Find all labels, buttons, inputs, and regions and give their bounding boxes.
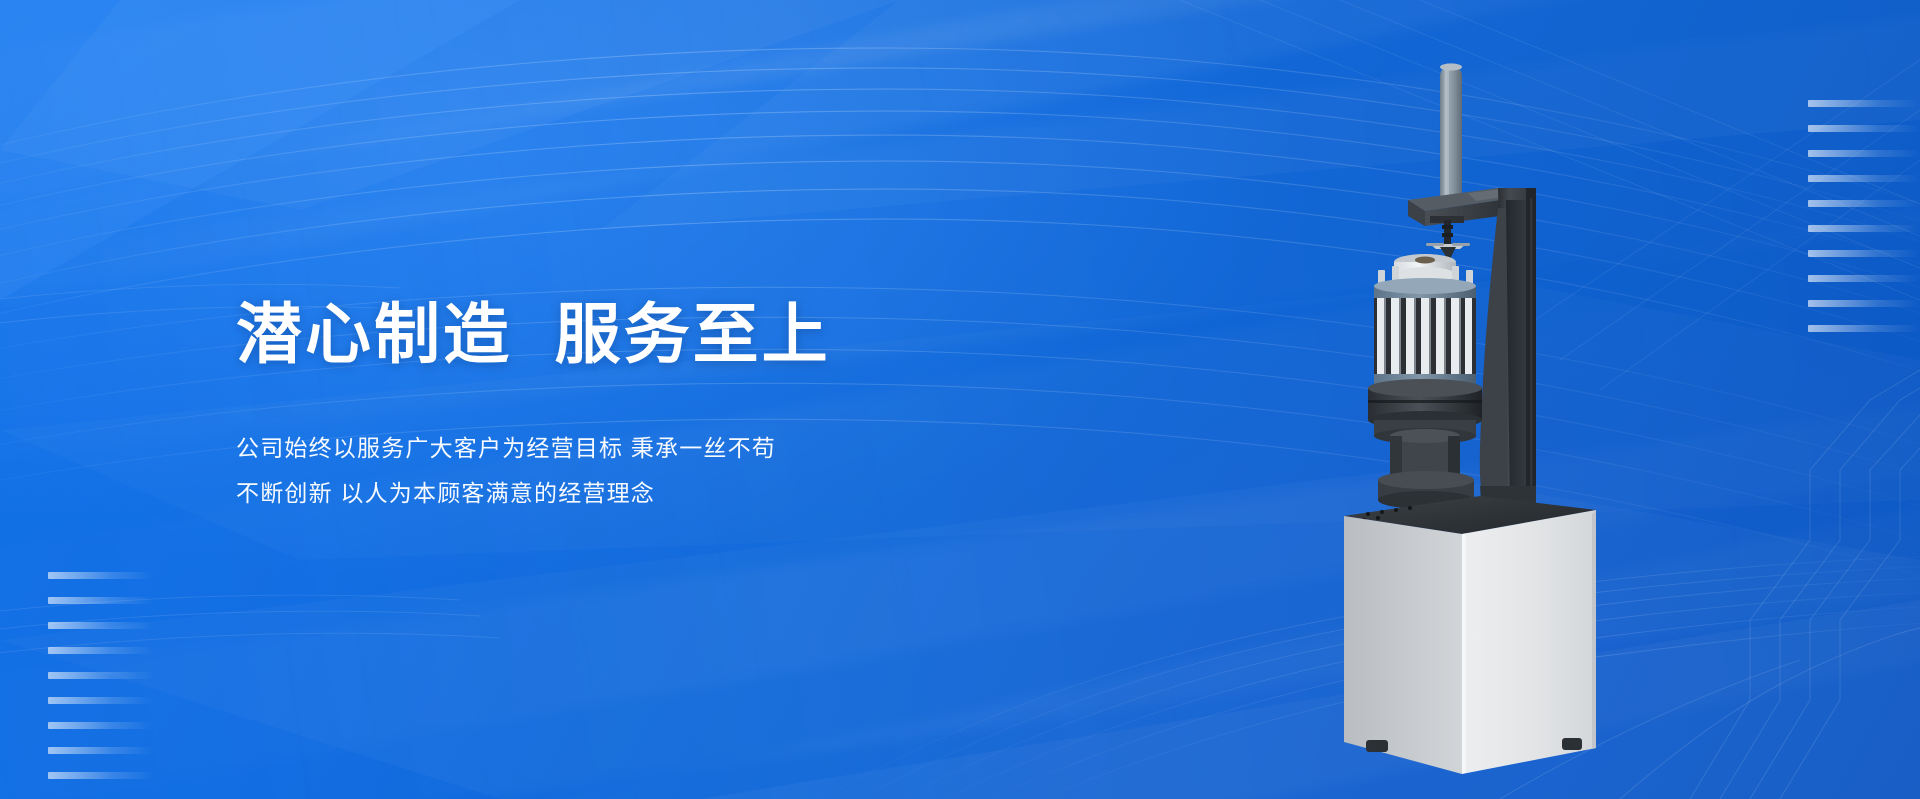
c-frame-column: [1480, 188, 1536, 518]
banner-copy: 潜心制造 服务至上 公司始终以服务广大客户为经营目标 秉承一丝不苟 不断创新 以…: [236, 300, 996, 516]
tick-bar: [48, 672, 153, 679]
tick-bar: [48, 697, 153, 704]
tick-bar: [1808, 150, 1920, 157]
tick-bar: [1808, 125, 1920, 132]
motor-housing: [1368, 379, 1482, 509]
tick-bar: [1808, 175, 1920, 182]
vertical-rod: [1440, 63, 1462, 206]
decor-tick-bars-right: [1808, 100, 1920, 332]
banner-subtitle-line-1: 公司始终以服务广大客户为经营目标 秉承一丝不苟: [236, 426, 996, 471]
tick-bar: [48, 747, 153, 754]
tick-bar: [1808, 250, 1920, 257]
tick-bar: [48, 597, 153, 604]
hero-banner: 潜心制造 服务至上 公司始终以服务广大客户为经营目标 秉承一丝不苟 不断创新 以…: [0, 0, 1920, 799]
tick-bar: [1808, 225, 1920, 232]
decor-tick-bars-left: [48, 572, 153, 779]
tick-bar: [48, 722, 153, 729]
tick-bar: [1808, 100, 1920, 107]
product-machine-illustration: [1330, 48, 1610, 799]
light-band: [0, 0, 1920, 232]
tick-bar: [48, 772, 153, 779]
tick-bar: [1808, 325, 1920, 332]
tick-bar: [1808, 300, 1920, 307]
tick-bar: [1808, 200, 1920, 207]
banner-headline: 潜心制造 服务至上: [236, 300, 996, 370]
tick-bar: [48, 622, 153, 629]
banner-subtitle-line-2: 不断创新 以人为本顾客满意的经营理念: [236, 471, 996, 516]
base-cabinet: [1344, 496, 1596, 774]
tick-bar: [48, 572, 153, 579]
banner-subtitle: 公司始终以服务广大客户为经营目标 秉承一丝不苟 不断创新 以人为本顾客满意的经营…: [236, 426, 996, 516]
tick-bar: [48, 647, 153, 654]
filter-cylinder: [1374, 254, 1476, 396]
tick-bar: [1808, 275, 1920, 282]
